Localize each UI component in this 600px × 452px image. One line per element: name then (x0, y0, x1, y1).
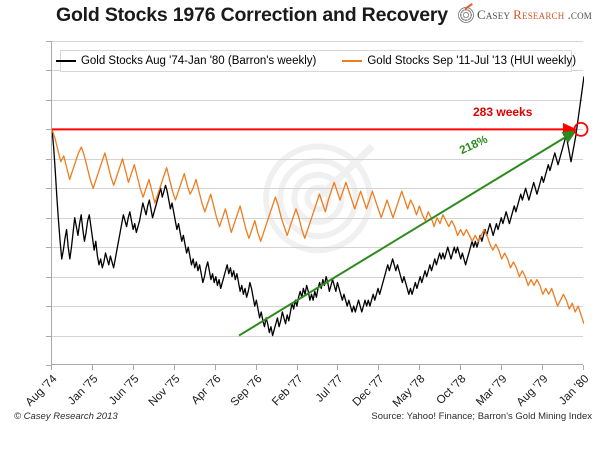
legend-item-black: Gold Stocks Aug '74-Jan '80 (Barron's we… (56, 55, 316, 67)
y-axis-tick (46, 277, 51, 278)
x-axis-tick (256, 365, 257, 370)
x-axis-tick (297, 365, 298, 370)
annotation-arrows (52, 41, 584, 365)
logo-research-text: Research (513, 7, 564, 23)
plot-area (51, 41, 583, 365)
x-axis-tick (583, 365, 584, 370)
green-diagonal-arrow (239, 131, 575, 335)
logo-casey-text: Casey (477, 7, 510, 23)
annotation-283-weeks: 283 weeks (473, 105, 532, 119)
x-axis-tick (133, 365, 134, 370)
x-axis-tick (51, 365, 52, 370)
x-axis-tick (419, 365, 420, 370)
x-axis-tick (92, 365, 93, 370)
source-text: Source: Yahoo! Finance; Barron's Gold Mi… (371, 411, 592, 422)
legend-swatch-black (56, 60, 76, 62)
y-axis-tick (46, 129, 51, 130)
y-axis-tick (46, 100, 51, 101)
y-axis-tick (46, 306, 51, 307)
x-axis-label: Apr '76 (144, 373, 223, 452)
legend-label-black: Gold Stocks Aug '74-Jan '80 (Barron's we… (81, 55, 316, 67)
logo-com-text: .com (567, 7, 592, 23)
legend-label-orange: Gold Stocks Sep '11-Jul '13 (HUI weekly) (367, 55, 576, 67)
x-axis-tick (174, 365, 175, 370)
legend-swatch-orange (342, 60, 362, 62)
copyright-text: © Casey Research 2013 (14, 411, 118, 422)
x-axis-tick (378, 365, 379, 370)
x-axis-label: Feb '77 (226, 373, 305, 452)
y-axis-tick (46, 247, 51, 248)
endpoint-circle-marker (575, 123, 588, 136)
y-axis-tick (46, 70, 51, 71)
y-axis-tick (46, 218, 51, 219)
x-axis-tick (337, 365, 338, 370)
casey-research-logo: Casey Research .com (458, 5, 592, 25)
y-axis-tick (46, 41, 51, 42)
y-axis-tick (46, 159, 51, 160)
chart-title: Gold Stocks 1976 Correction and Recovery (56, 4, 436, 27)
x-axis-label: Sep '76 (185, 373, 264, 452)
x-axis-label: Jul '77 (267, 373, 346, 452)
casey-logo-icon (458, 7, 474, 23)
x-axis-tick (215, 365, 216, 370)
x-axis-tick (501, 365, 502, 370)
chart-container: Gold Stocks 1976 Correction and Recovery… (0, 0, 600, 431)
chart-legend: Gold Stocks Aug '74-Jan '80 (Barron's we… (60, 50, 572, 72)
x-axis-tick (460, 365, 461, 370)
legend-item-orange: Gold Stocks Sep '11-Jul '13 (HUI weekly) (342, 55, 576, 67)
y-axis-tick (46, 336, 51, 337)
y-axis-tick (46, 188, 51, 189)
x-axis-tick (542, 365, 543, 370)
